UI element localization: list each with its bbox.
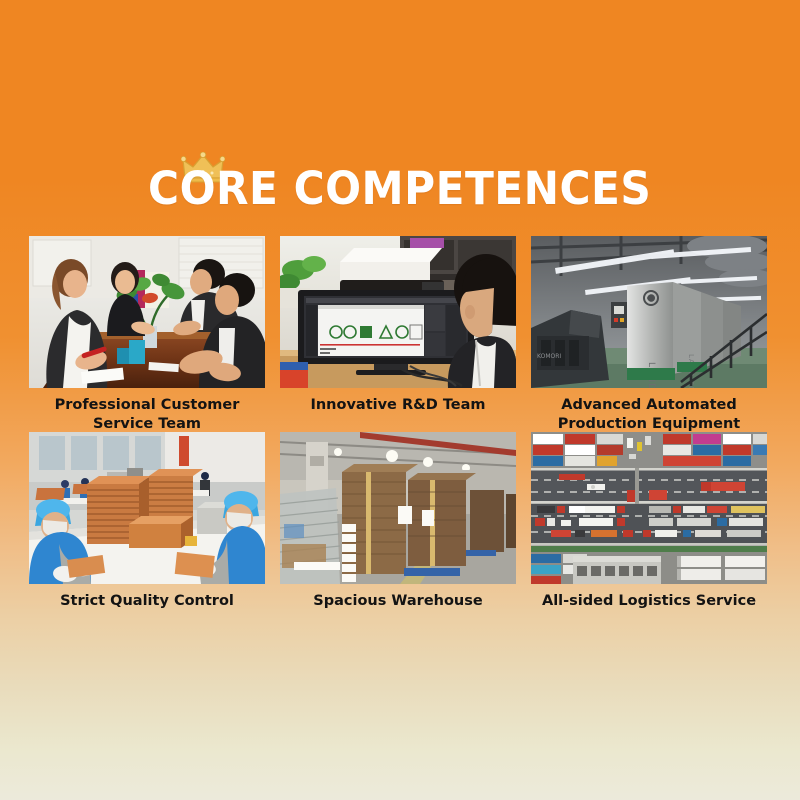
competence-card-advanced-automated-production-equipment[interactable]: LAND 800 LAND 800 KO — [531, 236, 767, 432]
photo-quality-control-line — [29, 432, 265, 584]
competence-card-spacious-warehouse[interactable]: Spacious Warehouse — [280, 432, 516, 628]
caption-strict-quality-control: Strict Quality Control — [29, 584, 265, 628]
caption-professional-customer-service-team: Professional Customer Service Team — [29, 388, 265, 432]
caption-innovative-rd-team: Innovative R&D Team — [280, 388, 516, 432]
title-block: CORE COMPETENCES — [0, 152, 800, 197]
competence-card-innovative-rd-team[interactable]: Innovative R&D Team — [280, 236, 516, 432]
caption-line-2: Production Equipment — [558, 416, 740, 432]
caption-line-2: Service Team — [93, 416, 201, 432]
photo-container-port-aerial — [531, 432, 767, 584]
caption-line-1: All-sided Logistics Service — [542, 593, 756, 609]
competences-grid: Professional Customer Service Team — [29, 236, 767, 628]
caption-line-1: Advanced Automated — [561, 397, 737, 413]
competence-card-strict-quality-control[interactable]: Strict Quality Control — [29, 432, 265, 628]
competence-card-professional-customer-service-team[interactable]: Professional Customer Service Team — [29, 236, 265, 432]
photo-printing-press-hall: LAND 800 LAND 800 KO — [531, 236, 767, 388]
page-title: CORE COMPETENCES — [148, 166, 651, 211]
photo-designer-at-monitor — [280, 236, 516, 388]
photo-warehouse — [280, 432, 516, 584]
caption-line-1: Strict Quality Control — [60, 593, 234, 609]
caption-line-1: Innovative R&D Team — [310, 397, 485, 413]
caption-line-1: Professional Customer — [55, 397, 240, 413]
caption-all-sided-logistics-service: All-sided Logistics Service — [531, 584, 767, 628]
svg-text:KOMORI: KOMORI — [537, 353, 561, 360]
caption-line-1: Spacious Warehouse — [313, 593, 482, 609]
caption-advanced-automated-production-equipment: Advanced Automated Production Equipment — [531, 388, 767, 432]
photo-meeting-room — [29, 236, 265, 388]
competence-card-all-sided-logistics-service[interactable]: All-sided Logistics Service — [531, 432, 767, 628]
caption-spacious-warehouse: Spacious Warehouse — [280, 584, 516, 628]
core-competences-banner: CORE COMPETENCES — [0, 0, 800, 800]
